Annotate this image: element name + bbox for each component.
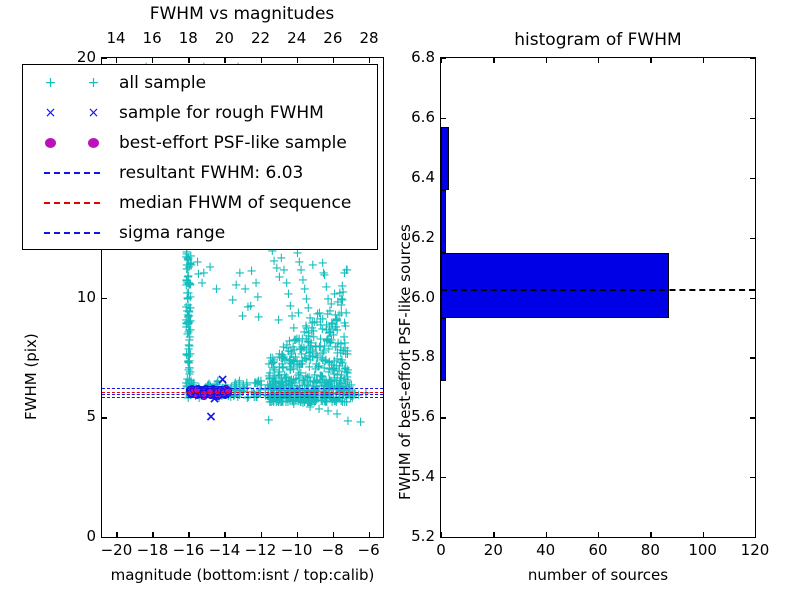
legend-marker-3 (29, 172, 115, 174)
left-bottom-tick-7: −6 (350, 541, 388, 559)
right-x-tick-6: 120 (735, 541, 775, 559)
left-top-tick-5: 24 (281, 29, 313, 47)
legend-item-label-0: all sample (119, 73, 206, 93)
legend-item-2[interactable]: best-effort PSF-like sample (29, 129, 373, 157)
right-y-tick-7: 6.6 (397, 108, 435, 126)
legend-marker-5 (29, 232, 115, 234)
legend-item-3[interactable]: resultant FWHM: 6.03 (29, 159, 373, 187)
legend-marker-4 (29, 202, 115, 204)
left-top-tick-4: 22 (245, 29, 277, 47)
legend-item-0[interactable]: ++all sample (29, 69, 373, 97)
legend-item-label-3: resultant FWHM: 6.03 (119, 163, 303, 183)
left-bottom-tick-2: −16 (169, 541, 207, 559)
right-y-tick-8: 6.8 (397, 48, 435, 66)
left-y-tick-0: 0 (62, 527, 96, 545)
right-x-tick-1: 20 (473, 541, 513, 559)
left-top-tick-2: 18 (172, 29, 204, 47)
legend-marker-2 (29, 138, 115, 148)
left-bottom-tick-0: −20 (97, 541, 135, 559)
right-panel-ylabel: FWHM of best-effort PSF-like sources (396, 224, 414, 500)
legend-item-1[interactable]: ××sample for rough FWHM (29, 99, 373, 127)
cross-icon: × (88, 106, 100, 120)
legend-item-label-1: sample for rough FWHM (119, 103, 324, 123)
right-x-tick-4: 80 (630, 541, 670, 559)
left-bottom-tick-3: −14 (205, 541, 243, 559)
left-bottom-tick-1: −18 (133, 541, 171, 559)
legend-item-label-5: sigma range (119, 223, 225, 243)
left-panel-ylabel: FWHM (pix) (22, 333, 40, 420)
right-panel-xlabel: number of sources (440, 566, 756, 584)
right-y-tick-6: 6.4 (397, 168, 435, 186)
figure-canvas: FWHM vs magnitudes 1416182022242628 −20−… (0, 0, 800, 600)
dashdot-line-icon (44, 232, 100, 234)
left-y-tick-2: 10 (62, 288, 96, 306)
circle-icon (45, 138, 56, 148)
legend-box: ++all sample××sample for rough FWHMbest-… (22, 64, 378, 250)
cross-icon: × (45, 106, 57, 120)
legend-item-label-2: best-effort PSF-like sample (119, 133, 347, 153)
left-bottom-tick-5: −10 (278, 541, 316, 559)
right-x-tick-2: 40 (526, 541, 566, 559)
legend-item-4[interactable]: median FHWM of sequence (29, 189, 373, 217)
plus-icon: + (88, 76, 100, 90)
left-panel-xlabel: magnitude (bottom:isnt / top:calib) (101, 566, 384, 584)
dashed-line-icon (44, 202, 100, 204)
right-x-tick-3: 60 (578, 541, 618, 559)
left-bottom-tick-4: −12 (242, 541, 280, 559)
left-top-tick-7: 28 (353, 29, 385, 47)
plus-icon: + (45, 76, 57, 90)
right-x-tick-5: 100 (683, 541, 723, 559)
left-y-tick-1: 5 (62, 407, 96, 425)
left-top-tick-0: 14 (100, 29, 132, 47)
dashed-line-icon (44, 172, 100, 174)
legend-item-label-4: median FHWM of sequence (119, 193, 351, 213)
right-y-tick-0: 5.2 (397, 527, 435, 545)
left-bottom-tick-6: −8 (314, 541, 352, 559)
legend-marker-1: ×× (29, 106, 115, 120)
legend-marker-0: ++ (29, 76, 115, 90)
legend-item-5[interactable]: sigma range (29, 219, 373, 247)
right-panel-title: histogram of FWHM (440, 30, 756, 50)
left-top-tick-6: 26 (317, 29, 349, 47)
left-panel-title: FWHM vs magnitudes (101, 4, 383, 24)
left-top-tick-1: 16 (136, 29, 168, 47)
left-top-tick-3: 20 (208, 29, 240, 47)
right-plot-frame (440, 57, 756, 538)
circle-icon (88, 138, 99, 148)
